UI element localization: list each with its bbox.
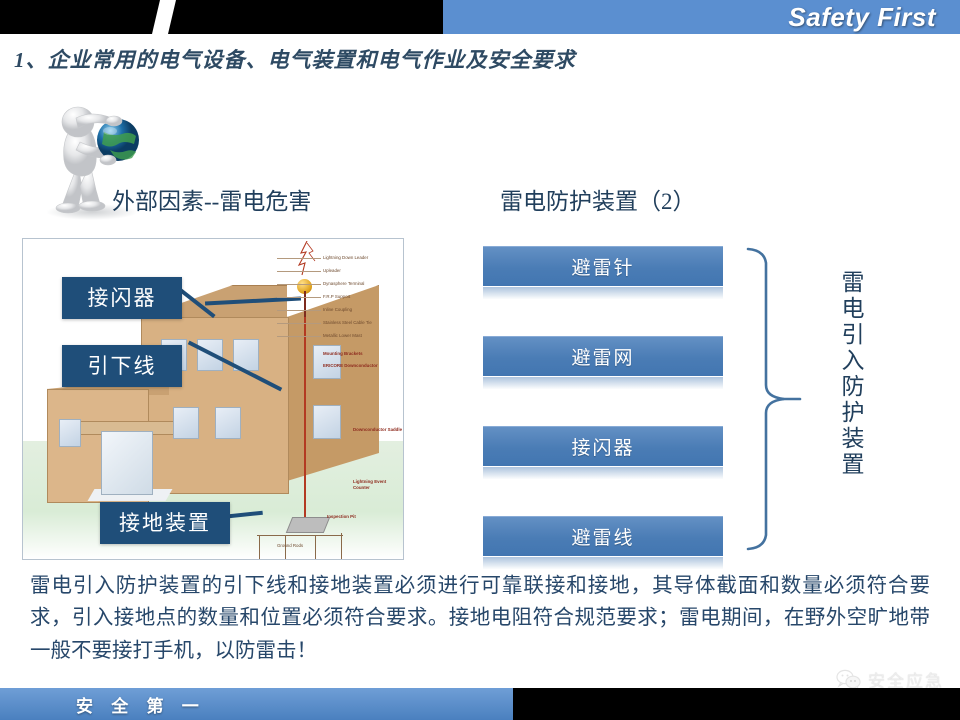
section-heading-left: 外部因素--雷电危害 — [112, 182, 311, 216]
diagram-label: Ground Rods — [277, 543, 303, 549]
section-heading-right: 雷电防护装置（2） — [500, 182, 696, 216]
spacer — [483, 483, 723, 516]
window — [173, 407, 199, 439]
diagram-label: Metallic Lower Mast — [323, 333, 362, 339]
top-banner: Safety First — [0, 0, 960, 34]
diagram-label: Stainless Steel Cable Tie — [323, 320, 372, 326]
body-paragraph: 雷电引入防护装置的引下线和接地装置必须进行可靠联接和接地，其导体截面和数量必须符… — [30, 570, 930, 667]
bar-reflection — [483, 467, 723, 479]
building-side-wall — [287, 285, 381, 483]
slide-title: 1、企业常用的电气设备、电气装置和电气作业及安全要求 — [14, 44, 576, 74]
spacer — [483, 393, 723, 426]
bar-reflection — [483, 287, 723, 299]
diagram-label: Downconductor Saddle — [353, 427, 403, 433]
list-item[interactable]: 接闪器 — [483, 426, 723, 479]
diagram-label: ERICORE Downconductor — [323, 363, 378, 369]
banner-title: Safety First — [788, 2, 936, 33]
device-bar-label: 避雷网 — [483, 336, 723, 376]
down-conductor — [304, 317, 306, 521]
banner-black-block-left — [0, 0, 160, 34]
list-item[interactable]: 避雷线 — [483, 516, 723, 569]
curly-brace-icon — [744, 245, 802, 553]
callout-box-air-terminal: 接闪器 — [62, 277, 182, 319]
footer-black-block — [513, 688, 960, 720]
diagram-label: F.R.P Support — [323, 294, 350, 300]
footer-slogan: 安 全 第 一 — [76, 692, 206, 717]
list-item[interactable]: 避雷网 — [483, 336, 723, 389]
diagram-label: Inspection Pit — [327, 514, 356, 520]
device-bar-label: 避雷针 — [483, 246, 723, 286]
device-bar-label: 避雷线 — [483, 516, 723, 556]
brace-label: 雷电引入防护装置 — [832, 270, 866, 478]
callout-box-earthing-device: 接地装置 — [100, 502, 230, 544]
callout-box-down-conductor: 引下线 — [62, 345, 182, 387]
diagram-label: Lightning Down Leader — [323, 255, 368, 261]
bottom-bar: 安 全 第 一 — [0, 688, 960, 720]
window — [215, 407, 241, 439]
inspection-pit — [286, 517, 330, 533]
entrance-door — [101, 431, 153, 495]
diagram-label: Dynasphere Terminal — [323, 281, 364, 287]
device-list: 避雷针 避雷网 接闪器 避雷线 — [483, 246, 723, 573]
metallic-lower-mast — [304, 291, 306, 317]
diagram-label: Lightning Event Counter — [353, 479, 403, 490]
lightning-bolt-icon — [291, 241, 321, 279]
window — [59, 419, 81, 447]
spacer — [483, 303, 723, 336]
banner-black-block-right — [168, 0, 453, 34]
device-bar-label: 接闪器 — [483, 426, 723, 466]
window — [313, 405, 341, 439]
bar-reflection — [483, 557, 723, 569]
diagram-label: Mounting Brackets — [323, 351, 363, 357]
bar-reflection — [483, 377, 723, 389]
diagram-label: Upleader — [323, 268, 341, 274]
diagram-label: Inline Coupling — [323, 307, 352, 313]
list-item[interactable]: 避雷针 — [483, 246, 723, 299]
